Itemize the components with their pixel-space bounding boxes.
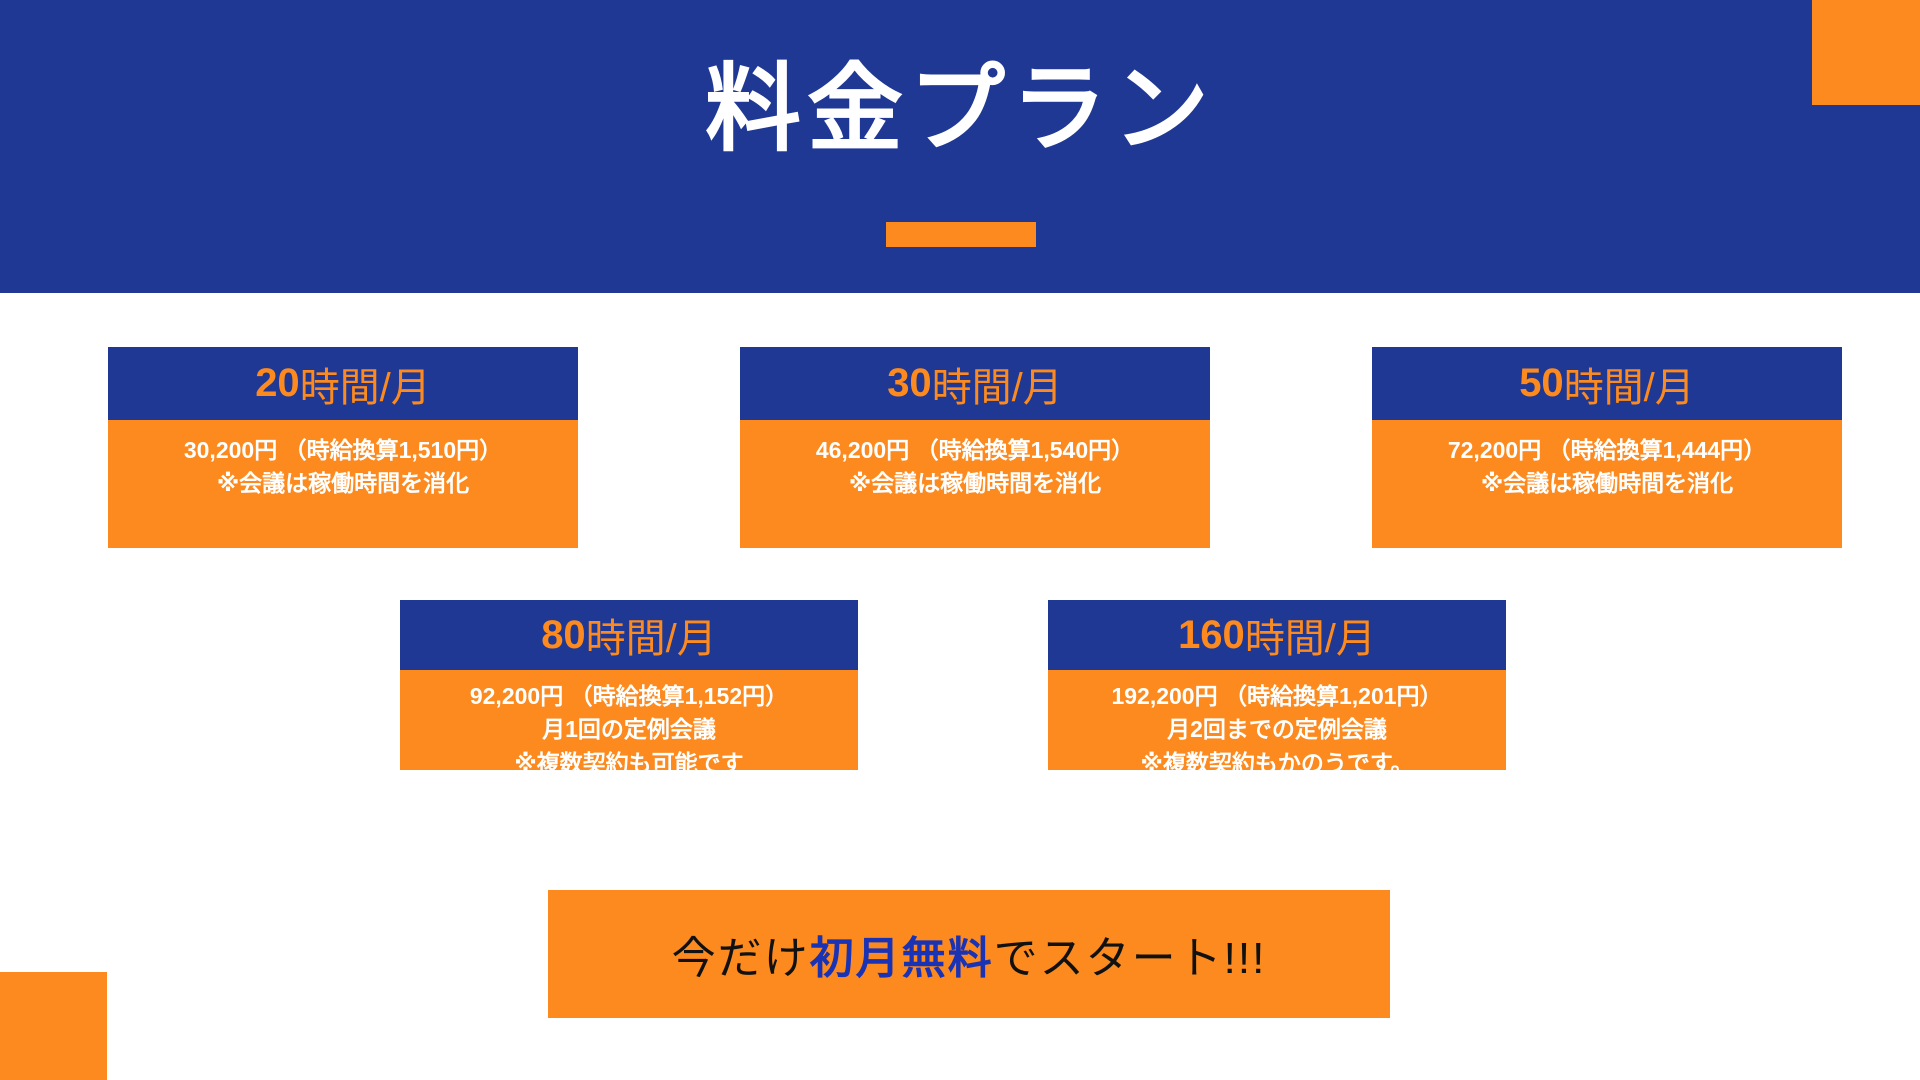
plan-hours-number: 30 <box>887 361 932 406</box>
plan-detail-line: 月1回の定例会議 <box>400 713 858 746</box>
corner-accent-bottom-left <box>0 972 107 1080</box>
plan-card-body: 30,200円 （時給換算1,510円） ※会議は稼働時間を消化 <box>108 420 578 548</box>
plan-card-header: 50時間/月 <box>1372 347 1842 420</box>
plan-hours-number: 160 <box>1178 613 1245 658</box>
plan-card-header: 20時間/月 <box>108 347 578 420</box>
plan-card[interactable]: 80時間/月 92,200円 （時給換算1,152円） 月1回の定例会議 ※複数… <box>400 600 858 770</box>
plan-card[interactable]: 30時間/月 46,200円 （時給換算1,540円） ※会議は稼働時間を消化 <box>740 347 1210 548</box>
header-band: 料金プラン <box>0 0 1920 293</box>
plan-detail-line: 30,200円 （時給換算1,510円） <box>108 434 578 467</box>
plan-detail-line: 192,200円 （時給換算1,201円） <box>1048 680 1506 713</box>
plan-detail-line: 46,200円 （時給換算1,540円） <box>740 434 1210 467</box>
plan-hours-unit: 時間/月 <box>300 355 431 413</box>
plan-card[interactable]: 50時間/月 72,200円 （時給換算1,444円） ※会議は稼働時間を消化 <box>1372 347 1842 548</box>
title-underline <box>886 222 1036 247</box>
page-title: 料金プラン <box>0 55 1920 165</box>
plan-card[interactable]: 20時間/月 30,200円 （時給換算1,510円） ※会議は稼働時間を消化 <box>108 347 578 548</box>
cta-text: 今だけ初月無料でスタート!!! <box>672 922 1267 986</box>
cta-highlight: 初月無料 <box>810 934 994 983</box>
plan-detail-line: ※会議は稼働時間を消化 <box>740 467 1210 500</box>
plan-hours-number: 50 <box>1519 361 1564 406</box>
cta-suffix: でスタート!!! <box>994 934 1267 983</box>
plan-card-header: 160時間/月 <box>1048 600 1506 670</box>
plan-hours-unit: 時間/月 <box>932 355 1063 413</box>
plan-hours-number: 20 <box>255 361 300 406</box>
plan-card[interactable]: 160時間/月 192,200円 （時給換算1,201円） 月2回までの定例会議… <box>1048 600 1506 770</box>
plan-detail-line: 92,200円 （時給換算1,152円） <box>400 680 858 713</box>
plan-card-body: 92,200円 （時給換算1,152円） 月1回の定例会議 ※複数契約も可能です <box>400 670 858 770</box>
plan-detail-line: ※複数契約もかのうです。 <box>1048 747 1506 780</box>
plan-card-body: 72,200円 （時給換算1,444円） ※会議は稼働時間を消化 <box>1372 420 1842 548</box>
plan-hours-unit: 時間/月 <box>1564 355 1695 413</box>
cta-prefix: 今だけ <box>672 934 810 983</box>
plan-hours-unit: 時間/月 <box>586 606 717 664</box>
cta-banner[interactable]: 今だけ初月無料でスタート!!! <box>548 890 1390 1018</box>
plan-card-body: 46,200円 （時給換算1,540円） ※会議は稼働時間を消化 <box>740 420 1210 548</box>
plan-card-header: 80時間/月 <box>400 600 858 670</box>
plan-card-body: 192,200円 （時給換算1,201円） 月2回までの定例会議 ※複数契約もか… <box>1048 670 1506 770</box>
plan-detail-line: 72,200円 （時給換算1,444円） <box>1372 434 1842 467</box>
plan-hours-number: 80 <box>541 613 586 658</box>
plan-detail-line: ※会議は稼働時間を消化 <box>108 467 578 500</box>
pricing-slide: 料金プラン 20時間/月 30,200円 （時給換算1,510円） ※会議は稼働… <box>0 0 1920 1080</box>
plan-detail-line: ※複数契約も可能です <box>400 747 858 780</box>
plan-hours-unit: 時間/月 <box>1245 606 1376 664</box>
plan-detail-line: 月2回までの定例会議 <box>1048 713 1506 746</box>
plan-card-header: 30時間/月 <box>740 347 1210 420</box>
plan-detail-line: ※会議は稼働時間を消化 <box>1372 467 1842 500</box>
